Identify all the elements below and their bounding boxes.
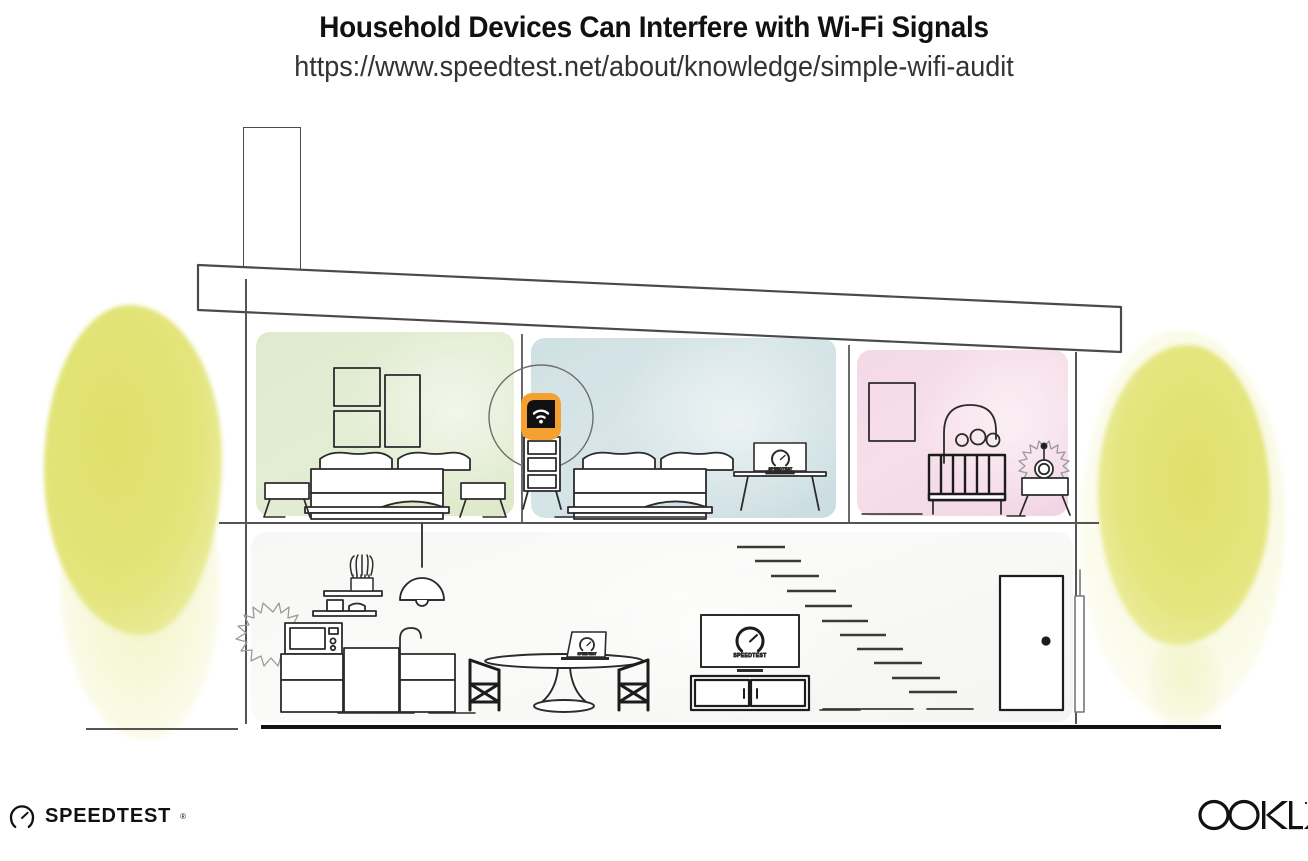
speedtest-trademark: ® xyxy=(180,812,186,821)
speedtest-gauge-icon xyxy=(8,802,36,830)
wall-frame-pink xyxy=(869,383,915,441)
chair-right xyxy=(619,660,648,710)
laptop-brand-text-blue: SPEEDTEST xyxy=(768,467,793,471)
desk-blue xyxy=(734,472,826,510)
dresser xyxy=(523,437,561,509)
wifi-router[interactable] xyxy=(521,393,561,440)
media-console xyxy=(691,676,809,710)
plant-on-shelf xyxy=(350,555,373,591)
kitchen-counters xyxy=(281,648,455,712)
wifi-icon xyxy=(525,398,557,431)
nightstand-right-green xyxy=(460,483,506,517)
door xyxy=(1000,576,1063,710)
bed-blue xyxy=(568,453,733,519)
television xyxy=(701,615,799,672)
ookla-wordmark xyxy=(1196,798,1308,832)
pendant-lamp xyxy=(400,524,444,606)
ookla-logo xyxy=(1196,798,1308,832)
nightstand-left-green xyxy=(264,483,310,517)
infographic-canvas: Household Devices Can Interfere with Wi-… xyxy=(0,0,1308,861)
laptop-brand-text-dining: SPEEDTEST xyxy=(578,652,597,656)
speedtest-logo: SPEEDTEST ® xyxy=(8,800,186,832)
house-line-art: SPEEDTEST xyxy=(0,0,1308,861)
sink-faucet xyxy=(400,628,421,654)
microwave xyxy=(285,623,342,654)
wall-art-frames xyxy=(334,368,420,447)
chair-left xyxy=(470,660,499,710)
crib xyxy=(929,455,1005,514)
door-knob xyxy=(1041,636,1050,645)
speedtest-wordmark: SPEEDTEST xyxy=(45,805,171,828)
side-table-pink xyxy=(1020,478,1070,515)
door-frame-post xyxy=(1075,570,1084,712)
bed-green xyxy=(305,453,470,519)
shelf-lower xyxy=(313,600,376,616)
tv-brand-text: SPEEDTEST xyxy=(733,653,766,659)
